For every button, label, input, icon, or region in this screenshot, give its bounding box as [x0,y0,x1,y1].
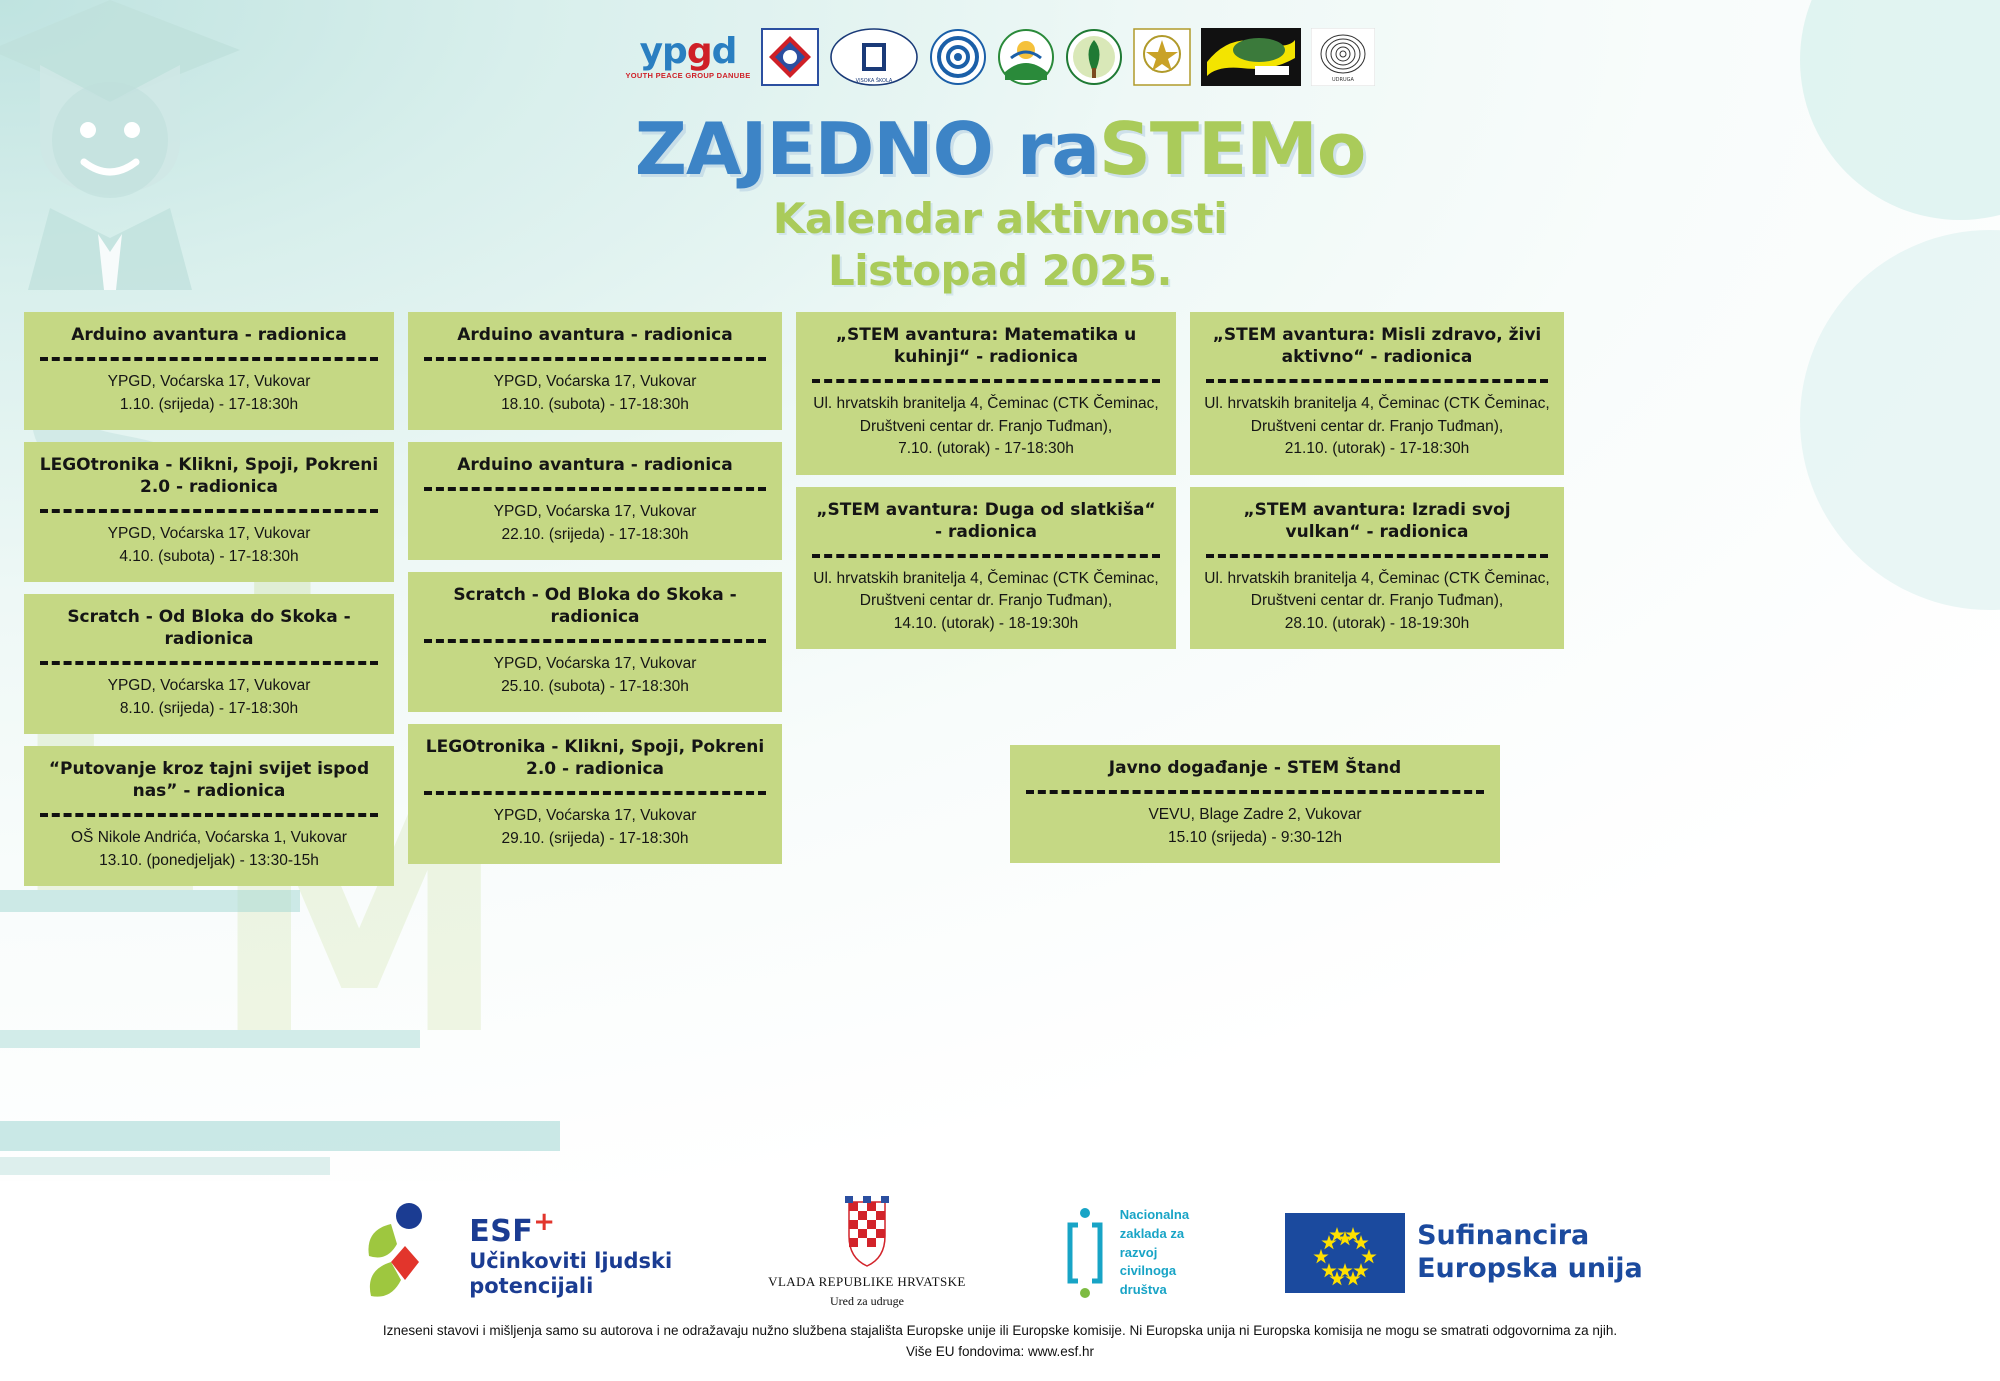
activity-location-line2: Društveni centar dr. Franjo Tuđman), [808,416,1164,438]
partner-logo-8: UDRUGA [1311,24,1375,90]
activity-datetime: 22.10. (srijeda) - 17-18:30h [420,524,770,546]
card-divider [1206,379,1548,383]
title-part-zajedno: ZAJEDNO [635,107,1017,191]
title-part-ra: ra [1017,107,1099,191]
activity-card[interactable]: „STEM avantura: Duga od slatkiša“ - radi… [796,487,1176,650]
activity-details: Ul. hrvatskih branitelja 4, Čeminac (CTK… [1200,393,1554,462]
footer: ESF+ Učinkoviti ljudski potencijali [0,1181,2000,1381]
activity-card[interactable]: Arduino avantura - radionica YPGD, Voćar… [408,312,782,430]
activity-card[interactable]: Arduino avantura - radionica YPGD, Voćar… [408,442,782,560]
ypgd-tagline: YOUTH PEACE GROUP DANUBE [626,72,751,80]
activity-title: Scratch - Od Bloka do Skoka - radionica [418,582,772,628]
activity-location: OŠ Nikole Andrića, Voćarska 1, Vukovar [36,827,382,849]
card-divider [40,661,378,665]
nzcd-line-3: razvoj [1120,1244,1189,1263]
activity-location-line2: Društveni centar dr. Franjo Tuđman), [808,590,1164,612]
activity-location: YPGD, Voćarska 17, Vukovar [420,653,770,675]
activity-column-4: „STEM avantura: Misli zdravo, živi aktiv… [1190,312,1564,863]
activity-card[interactable]: Scratch - Od Bloka do Skoka - radionica … [408,572,782,712]
esf-brand: ESF+ [469,1207,672,1249]
activity-title: „STEM avantura: Matematika u kuhinji“ - … [806,322,1166,368]
subtitle-month: Listopad 2025. [0,246,2000,295]
activity-location-line1: Ul. hrvatskih branitelja 4, Čeminac (CTK… [1202,393,1552,415]
activity-column-2: Arduino avantura - radionica YPGD, Voćar… [408,312,782,864]
esf-flower-icon [357,1200,457,1306]
esf-logo: ESF+ Učinkoviti ljudski potencijali [357,1200,672,1306]
nzcd-text: Nacionalna zaklada za razvoj civilnoga d… [1120,1206,1189,1300]
disclaimer-line-1: Izneseni stavovi i mišljenja samo su aut… [0,1320,2000,1342]
activity-datetime: 14.10. (utorak) - 18-19:30h [808,613,1164,635]
partner-logo-4 [997,24,1055,90]
esf-text: ESF+ Učinkoviti ljudski potencijali [469,1207,672,1299]
eu-flag-icon [1285,1213,1405,1293]
activity-location-line1: Ul. hrvatskih branitelja 4, Čeminac (CTK… [1202,568,1552,590]
activity-details: Ul. hrvatskih branitelja 4, Čeminac (CTK… [806,393,1166,462]
eu-line-2: Europska unija [1417,1253,1643,1286]
activity-datetime: 13.10. (ponedjeljak) - 13:30-15h [36,850,382,872]
layout-spacer [1190,661,1564,733]
public-event-location: VEVU, Blage Zadre 2, Vukovar [1022,804,1488,826]
card-divider [40,813,378,817]
card-divider [1206,554,1548,558]
vlada-text: VLADA REPUBLIKE HRVATSKE Ured za udruge [768,1272,966,1310]
activity-columns: Arduino avantura - radionica YPGD, Voćar… [24,312,1980,886]
disclaimer-line-2: Više EU fondovima: www.esf.hr [0,1341,2000,1363]
activity-details: OŠ Nikole Andrića, Voćarska 1, Vukovar 1… [34,827,384,874]
public-event-details: VEVU, Blage Zadre 2, Vukovar 15.10 (srij… [1020,804,1490,851]
card-divider [424,791,766,795]
activity-location: YPGD, Voćarska 17, Vukovar [420,371,770,393]
public-event-datetime: 15.10 (srijeda) - 9:30-12h [1022,827,1488,849]
activity-card[interactable]: „STEM avantura: Izradi svoj vulkan“ - ra… [1190,487,1564,650]
card-divider [40,509,378,513]
activity-location: YPGD, Voćarska 17, Vukovar [36,371,382,393]
page-title: ZAJEDNO raSTEMo [0,112,2000,188]
partner-logo-1 [761,24,819,90]
activity-title: „STEM avantura: Misli zdravo, živi aktiv… [1200,322,1554,368]
bracket-icon [1062,1207,1108,1299]
card-divider [812,379,1160,383]
public-event-title: Javno događanje - STEM Štand [1020,755,1490,779]
nzcd-line-1: Nacionalna [1120,1206,1189,1225]
activity-card[interactable]: Arduino avantura - radionica YPGD, Voćar… [24,312,394,430]
card-divider [812,554,1160,558]
activity-title: Arduino avantura - radionica [418,322,772,346]
activity-card[interactable]: „STEM avantura: Misli zdravo, živi aktiv… [1190,312,1564,475]
activity-card[interactable]: „STEM avantura: Matematika u kuhinji“ - … [796,312,1176,475]
eu-logo: Sufinancira Europska unija [1285,1213,1643,1293]
eu-text: Sufinancira Europska unija [1417,1220,1643,1286]
vlada-line-2: Ured za udruge [768,1292,966,1310]
activity-details: YPGD, Voćarska 17, Vukovar 25.10. (subot… [418,653,772,700]
activity-title: LEGOtronika - Klikni, Spoji, Pokreni 2.0… [418,734,772,780]
activity-location: YPGD, Voćarska 17, Vukovar [420,805,770,827]
activity-title: LEGOtronika - Klikni, Spoji, Pokreni 2.0… [34,452,384,498]
activity-datetime: 21.10. (utorak) - 17-18:30h [1202,438,1552,460]
card-divider [40,357,378,361]
croatian-coat-of-arms-icon [841,1196,893,1268]
activity-details: YPGD, Voćarska 17, Vukovar 18.10. (subot… [418,371,772,418]
nzcd-line-2: zaklada za [1120,1225,1189,1244]
activity-datetime: 29.10. (srijeda) - 17-18:30h [420,828,770,850]
activity-title: Scratch - Od Bloka do Skoka - radionica [34,604,384,650]
partner-logo-3 [929,24,987,90]
activity-location-line1: Ul. hrvatskih branitelja 4, Čeminac (CTK… [808,393,1164,415]
activity-card[interactable]: Scratch - Od Bloka do Skoka - radionica … [24,594,394,734]
activity-details: YPGD, Voćarska 17, Vukovar 8.10. (srijed… [34,675,384,722]
card-divider [1026,790,1484,794]
ypgd-logo: ypgd YOUTH PEACE GROUP DANUBE [626,24,751,90]
card-divider [424,357,766,361]
activity-details: YPGD, Voćarska 17, Vukovar 22.10. (srije… [418,501,772,548]
title-part-o: o [1317,107,1365,191]
activity-title: „STEM avantura: Izradi svoj vulkan“ - ra… [1200,497,1554,543]
activity-details: Ul. hrvatskih branitelja 4, Čeminac (CTK… [806,568,1166,637]
eu-line-1: Sufinancira [1417,1220,1643,1253]
activity-title: Arduino avantura - radionica [34,322,384,346]
activity-datetime: 18.10. (subota) - 17-18:30h [420,394,770,416]
activity-datetime: 4.10. (subota) - 17-18:30h [36,546,382,568]
partner-logo-2: VISOKA ŠKOLA [829,24,919,90]
svg-text:VISOKA ŠKOLA: VISOKA ŠKOLA [855,77,892,84]
svg-text:UDRUGA: UDRUGA [1332,77,1355,83]
activity-datetime: 28.10. (utorak) - 18-19:30h [1202,613,1552,635]
disclaimer: Izneseni stavovi i mišljenja samo su aut… [0,1320,2000,1363]
vlada-line-1: VLADA REPUBLIKE HRVATSKE [768,1272,966,1292]
card-divider [424,487,766,491]
activity-datetime: 1.10. (srijeda) - 17-18:30h [36,394,382,416]
esf-line-1: Učinkoviti ljudski [469,1249,672,1274]
footer-logo-row: ESF+ Učinkoviti ljudski potencijali [0,1193,2000,1313]
activity-details: Ul. hrvatskih branitelja 4, Čeminac (CTK… [1200,568,1554,637]
title-part-stem: STEM [1099,107,1317,191]
public-event-card[interactable]: Javno događanje - STEM Štand VEVU, Blage… [1010,745,1500,863]
activity-column-3: „STEM avantura: Matematika u kuhinji“ - … [796,312,1176,649]
activity-datetime: 8.10. (srijeda) - 17-18:30h [36,698,382,720]
activity-location: YPGD, Voćarska 17, Vukovar [36,675,382,697]
esf-line-2: potencijali [469,1274,672,1299]
activity-card[interactable]: LEGOtronika - Klikni, Spoji, Pokreni 2.0… [408,724,782,864]
activity-card[interactable]: LEGOtronika - Klikni, Spoji, Pokreni 2.0… [24,442,394,582]
activity-title: „STEM avantura: Duga od slatkiša“ - radi… [806,497,1166,543]
activity-title: Arduino avantura - radionica [418,452,772,476]
background-band-bottom [0,1101,700,1181]
activity-column-1: Arduino avantura - radionica YPGD, Voćar… [24,312,394,886]
activity-details: YPGD, Voćarska 17, Vukovar 4.10. (subota… [34,523,384,570]
activity-details: YPGD, Voćarska 17, Vukovar 1.10. (srijed… [34,371,384,418]
activity-location: YPGD, Voćarska 17, Vukovar [36,523,382,545]
partner-logo-5 [1065,24,1123,90]
partner-logo-6 [1133,24,1191,90]
activity-card[interactable]: “Putovanje kroz tajni svijet ispod nas” … [24,746,394,886]
activity-datetime: 7.10. (utorak) - 17-18:30h [808,438,1164,460]
activity-location: YPGD, Voćarska 17, Vukovar [420,501,770,523]
activity-location-line1: Ul. hrvatskih branitelja 4, Čeminac (CTK… [808,568,1164,590]
activity-title: “Putovanje kroz tajni svijet ispod nas” … [34,756,384,802]
nzcd-line-4: civilnoga [1120,1262,1189,1281]
card-divider [424,639,766,643]
partner-logo-7 [1201,24,1301,90]
activity-location-line2: Društveni centar dr. Franjo Tuđman), [1202,590,1552,612]
activity-location-line2: Društveni centar dr. Franjo Tuđman), [1202,416,1552,438]
partner-logo-row: ypgd YOUTH PEACE GROUP DANUBE VISOKA ŠKO… [0,22,2000,92]
activity-details: YPGD, Voćarska 17, Vukovar 29.10. (srije… [418,805,772,852]
nzcd-logo: Nacionalna zaklada za razvoj civilnoga d… [1062,1206,1189,1300]
subtitle-calendar: Kalendar aktivnosti [0,194,2000,243]
vlada-logo: VLADA REPUBLIKE HRVATSKE Ured za udruge [768,1196,966,1310]
nzcd-line-5: društva [1120,1281,1189,1300]
activity-datetime: 25.10. (subota) - 17-18:30h [420,676,770,698]
ypgd-wordmark: ypgd [640,34,737,70]
poster-canvas: S T E M ypgd YOUTH PEACE GROUP DANUBE [0,0,2000,1381]
